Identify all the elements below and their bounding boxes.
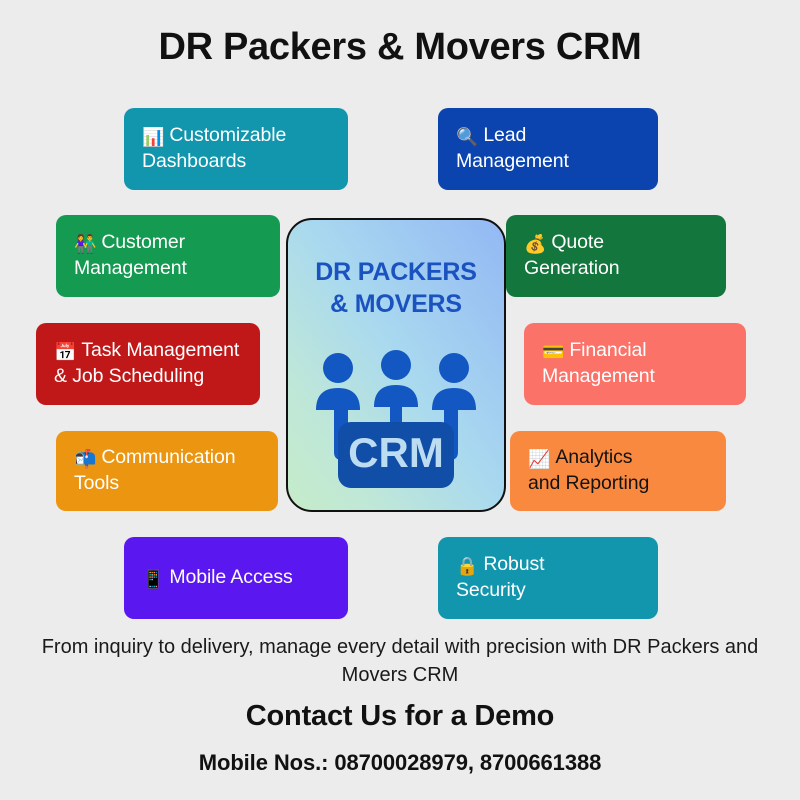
feature-line1: 👫Customer	[74, 230, 187, 256]
center-logo-panel: DR PACKERS & MOVERS CRM	[286, 218, 506, 512]
feature-line1: 💰Quote	[524, 230, 619, 256]
logo-line-2: & MOVERS	[288, 288, 504, 320]
feature-card-analytics-and-reporting[interactable]: 📈Analytics and Reporting	[510, 431, 726, 511]
feature-line1: 📈Analytics	[528, 445, 649, 471]
feature-line1: 📬Communication	[74, 445, 235, 471]
feature-card-customer-management[interactable]: 👫Customer Management	[56, 215, 280, 297]
feature-card-lead-management[interactable]: 🔍Lead Management	[438, 108, 658, 190]
logo-line-1: DR PACKERS	[288, 256, 504, 288]
feature-line2: Management	[542, 364, 655, 390]
feature-line1: 🔒Robust	[456, 552, 545, 578]
logo-wordmark: DR PACKERS & MOVERS	[288, 256, 504, 320]
mobile-phone-icon: 📱	[142, 569, 164, 589]
cta-heading: Contact Us for a Demo	[0, 700, 800, 733]
credit-card-icon: 💳	[542, 342, 564, 362]
feature-card-quote-generation[interactable]: 💰Quote Generation	[506, 215, 726, 297]
crm-team-icon: CRM	[308, 348, 484, 494]
feature-card-robust-security[interactable]: 🔒Robust Security	[438, 537, 658, 619]
crm-badge-label: CRM	[348, 429, 444, 476]
feature-line2: Tools	[74, 471, 235, 497]
bar-chart-icon: 📊	[142, 127, 164, 147]
feature-line1: 📱Mobile Access	[142, 565, 293, 591]
chart-increasing-icon: 📈	[528, 449, 550, 469]
feature-line2: and Reporting	[528, 471, 649, 497]
feature-line2: Security	[456, 578, 545, 604]
money-bag-icon: 💰	[524, 234, 546, 254]
mobile-numbers: Mobile Nos.: 08700028979, 8700661388	[0, 750, 800, 776]
feature-line2: Management	[74, 256, 187, 282]
infographic-canvas: DR Packers & Movers CRM 📊Customizable Da…	[0, 0, 800, 800]
feature-card-communication-tools[interactable]: 📬Communication Tools	[56, 431, 278, 511]
calendar-icon: 📅	[54, 342, 76, 362]
tagline-text: From inquiry to delivery, manage every d…	[40, 633, 760, 690]
feature-card-customizable-dashboards[interactable]: 📊Customizable Dashboards	[124, 108, 348, 190]
feature-card-task-management[interactable]: 📅Task Management & Job Scheduling	[36, 323, 260, 405]
page-title: DR Packers & Movers CRM	[0, 26, 800, 69]
mailbox-icon: 📬	[74, 449, 96, 469]
people-icon: 👫	[74, 234, 96, 254]
feature-line1: 📅Task Management	[54, 338, 239, 364]
lock-icon: 🔒	[456, 556, 478, 576]
feature-card-financial-management[interactable]: 💳Financial Management	[524, 323, 746, 405]
feature-line2: Management	[456, 149, 569, 175]
feature-card-mobile-access[interactable]: 📱Mobile Access	[124, 537, 348, 619]
feature-line2: & Job Scheduling	[54, 364, 239, 390]
feature-line1: 📊Customizable	[142, 123, 286, 149]
feature-line2: Dashboards	[142, 149, 286, 175]
magnifying-glass-icon: 🔍	[456, 127, 478, 147]
feature-line1: 💳Financial	[542, 338, 655, 364]
feature-line2: Generation	[524, 256, 619, 282]
feature-line1: 🔍Lead	[456, 123, 569, 149]
